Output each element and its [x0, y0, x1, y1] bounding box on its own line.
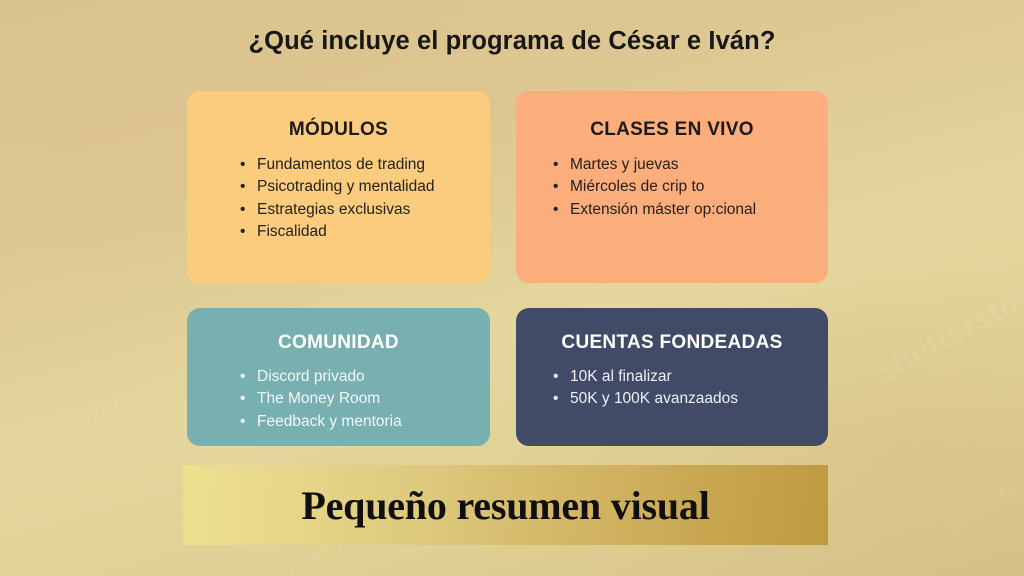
bullet-icon: • [240, 388, 245, 410]
card-title-modulos: MÓDULOS [187, 119, 490, 141]
list-item-label: 10K al finalizar [570, 368, 672, 385]
list-item: • Discord privado [240, 366, 490, 388]
card-modulos: MÓDULOS • Fundamentos de trading • Psico… [187, 91, 490, 283]
bullet-icon: • [553, 366, 558, 388]
list-item: • Fundamentos de trading [240, 154, 490, 176]
slide-canvas: shutterstock shutterstock shutterstock s… [0, 0, 1024, 576]
card-title-comunidad: COMUNIDAD [187, 332, 490, 354]
list-item: • Estrategias exclusivas [240, 199, 490, 221]
card-title-clases-en-vivo: CLASES EN VIVO [516, 119, 828, 141]
bullet-icon: • [240, 366, 245, 388]
list-item: • Psicotrading y mentalidad [240, 176, 490, 198]
card-title-cuentas-fondeadas: CUENTAS FONDEADAS [516, 332, 828, 354]
list-item: • Fiscalidad [240, 221, 490, 243]
list-item: • 50K y 100K avanzaados [553, 388, 828, 410]
watermark-text: shutterstock [871, 269, 1024, 389]
list-item: • Martes y juevas [553, 154, 828, 176]
bullet-icon: • [553, 199, 558, 221]
card-list-clases-en-vivo: • Martes y juevas • Miércoles de crip to… [553, 154, 828, 221]
bullet-icon: • [553, 388, 558, 410]
bullet-icon: • [240, 176, 245, 198]
summary-banner: Pequeño resumen visual [183, 465, 828, 545]
card-cuentas-fondeadas: CUENTAS FONDEADAS • 10K al finalizar • 5… [516, 308, 828, 446]
card-clases-en-vivo: CLASES EN VIVO • Martes y juevas • Miérc… [516, 91, 828, 283]
watermark-text: shutterstock [33, 354, 196, 460]
summary-banner-text: Pequeño resumen visual [301, 482, 709, 529]
card-list-comunidad: • Discord privado • The Money Room • Fee… [240, 366, 490, 433]
list-item-label: Martes y juevas [570, 156, 679, 173]
list-item: • 10K al finalizar [553, 366, 828, 388]
card-list-cuentas-fondeadas: • 10K al finalizar • 50K y 100K avanzaad… [553, 366, 828, 411]
bullet-icon: • [553, 176, 558, 198]
list-item-label: Fundamentos de trading [257, 156, 425, 173]
card-comunidad: COMUNIDAD • Discord privado • The Money … [187, 308, 490, 446]
list-item: • Extensión máster op:cional [553, 199, 828, 221]
list-item-label: 50K y 100K avanzaados [570, 390, 738, 407]
list-item-label: Feedback y mentoria [257, 413, 402, 430]
page-title: ¿Qué incluye el programa de César e Iván… [0, 27, 1024, 56]
list-item: • The Money Room [240, 388, 490, 410]
list-item-label: Discord privado [257, 368, 365, 385]
bullet-icon: • [240, 221, 245, 243]
list-item-label: Estrategias exclusivas [257, 201, 410, 218]
list-item: • Miércoles de crip to [553, 176, 828, 198]
list-item-label: Psicotrading y mentalidad [257, 178, 435, 195]
bullet-icon: • [240, 199, 245, 221]
watermark-text: shutterstock [941, 432, 1024, 538]
list-item-label: The Money Room [257, 390, 380, 407]
list-item: • Feedback y mentoria [240, 411, 490, 433]
bullet-icon: • [240, 411, 245, 433]
bullet-icon: • [240, 154, 245, 176]
list-item-label: Miércoles de crip to [570, 178, 704, 195]
list-item-label: Extensión máster op:cional [570, 201, 756, 218]
card-list-modulos: • Fundamentos de trading • Psicotrading … [240, 154, 490, 244]
list-item-label: Fiscalidad [257, 223, 327, 240]
bullet-icon: • [553, 154, 558, 176]
